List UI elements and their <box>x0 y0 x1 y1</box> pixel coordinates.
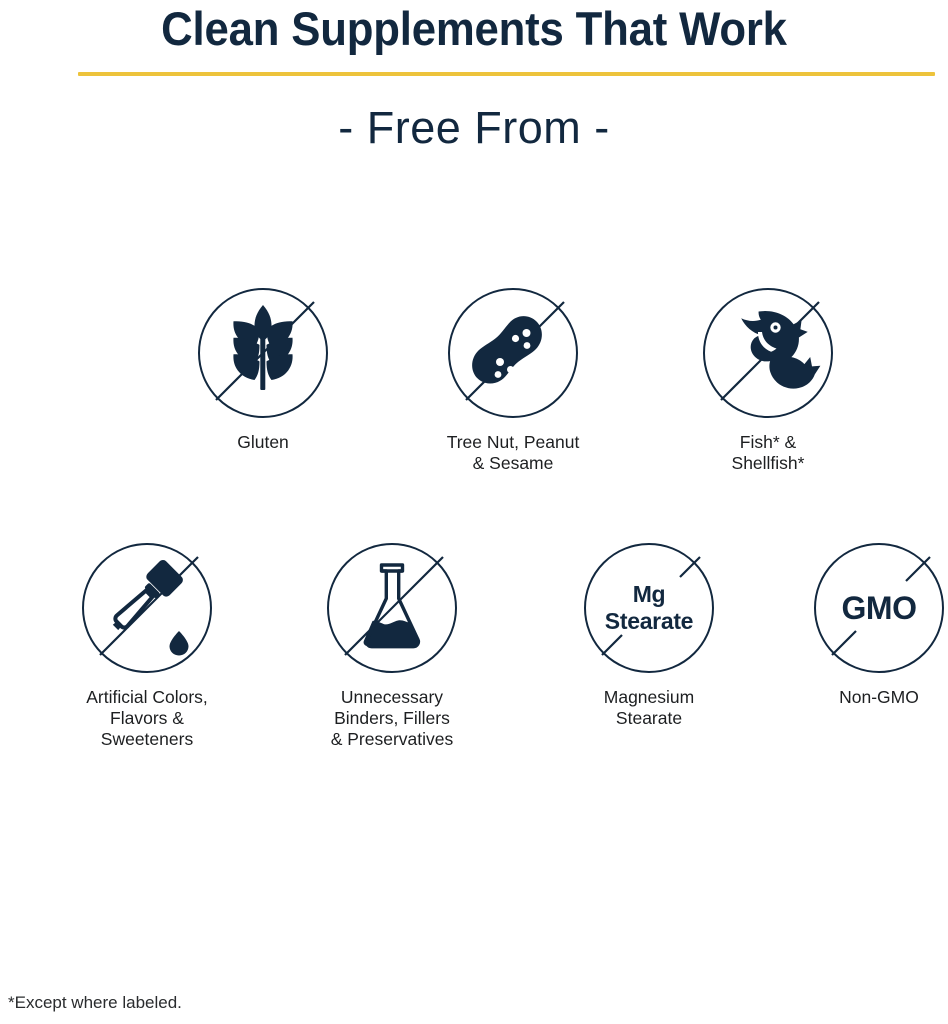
free-from-item-magnesium-stearate: Mg Stearate Magnesium Stearate <box>549 543 749 729</box>
free-from-label: Gluten <box>188 432 338 453</box>
free-from-item-tree-nut-peanut-sesame: Tree Nut, Peanut & Sesame <box>413 288 613 474</box>
footnote: *Except where labeled. <box>8 992 182 1014</box>
free-from-grid: Gluten Tree Nut, Peanut & Sesam <box>0 0 948 1024</box>
free-from-item-non-gmo: GMO Non-GMO <box>779 543 948 708</box>
free-from-item-gluten: Gluten <box>188 288 338 453</box>
wheat-icon <box>198 288 328 418</box>
flask-icon <box>327 543 457 673</box>
free-from-label: Unnecessary Binders, Fillers & Preservat… <box>292 687 492 750</box>
free-from-label: Non-GMO <box>779 687 948 708</box>
mg-stearate-text-icon: Mg Stearate <box>584 543 714 673</box>
free-from-label: Fish* & Shellfish* <box>668 432 868 474</box>
peanut-icon <box>448 288 578 418</box>
free-from-item-fish-shellfish: Fish* & Shellfish* <box>668 288 868 474</box>
free-from-item-artificial-colors: Artificial Colors, Flavors & Sweeteners <box>47 543 247 750</box>
free-from-label: Magnesium Stearate <box>549 687 749 729</box>
free-from-item-binders-fillers: Unnecessary Binders, Fillers & Preservat… <box>292 543 492 750</box>
dropper-icon <box>82 543 212 673</box>
gmo-text-icon: GMO <box>814 543 944 673</box>
free-from-label: Tree Nut, Peanut & Sesame <box>413 432 613 474</box>
fish-icon <box>703 288 833 418</box>
free-from-label: Artificial Colors, Flavors & Sweeteners <box>47 687 247 750</box>
